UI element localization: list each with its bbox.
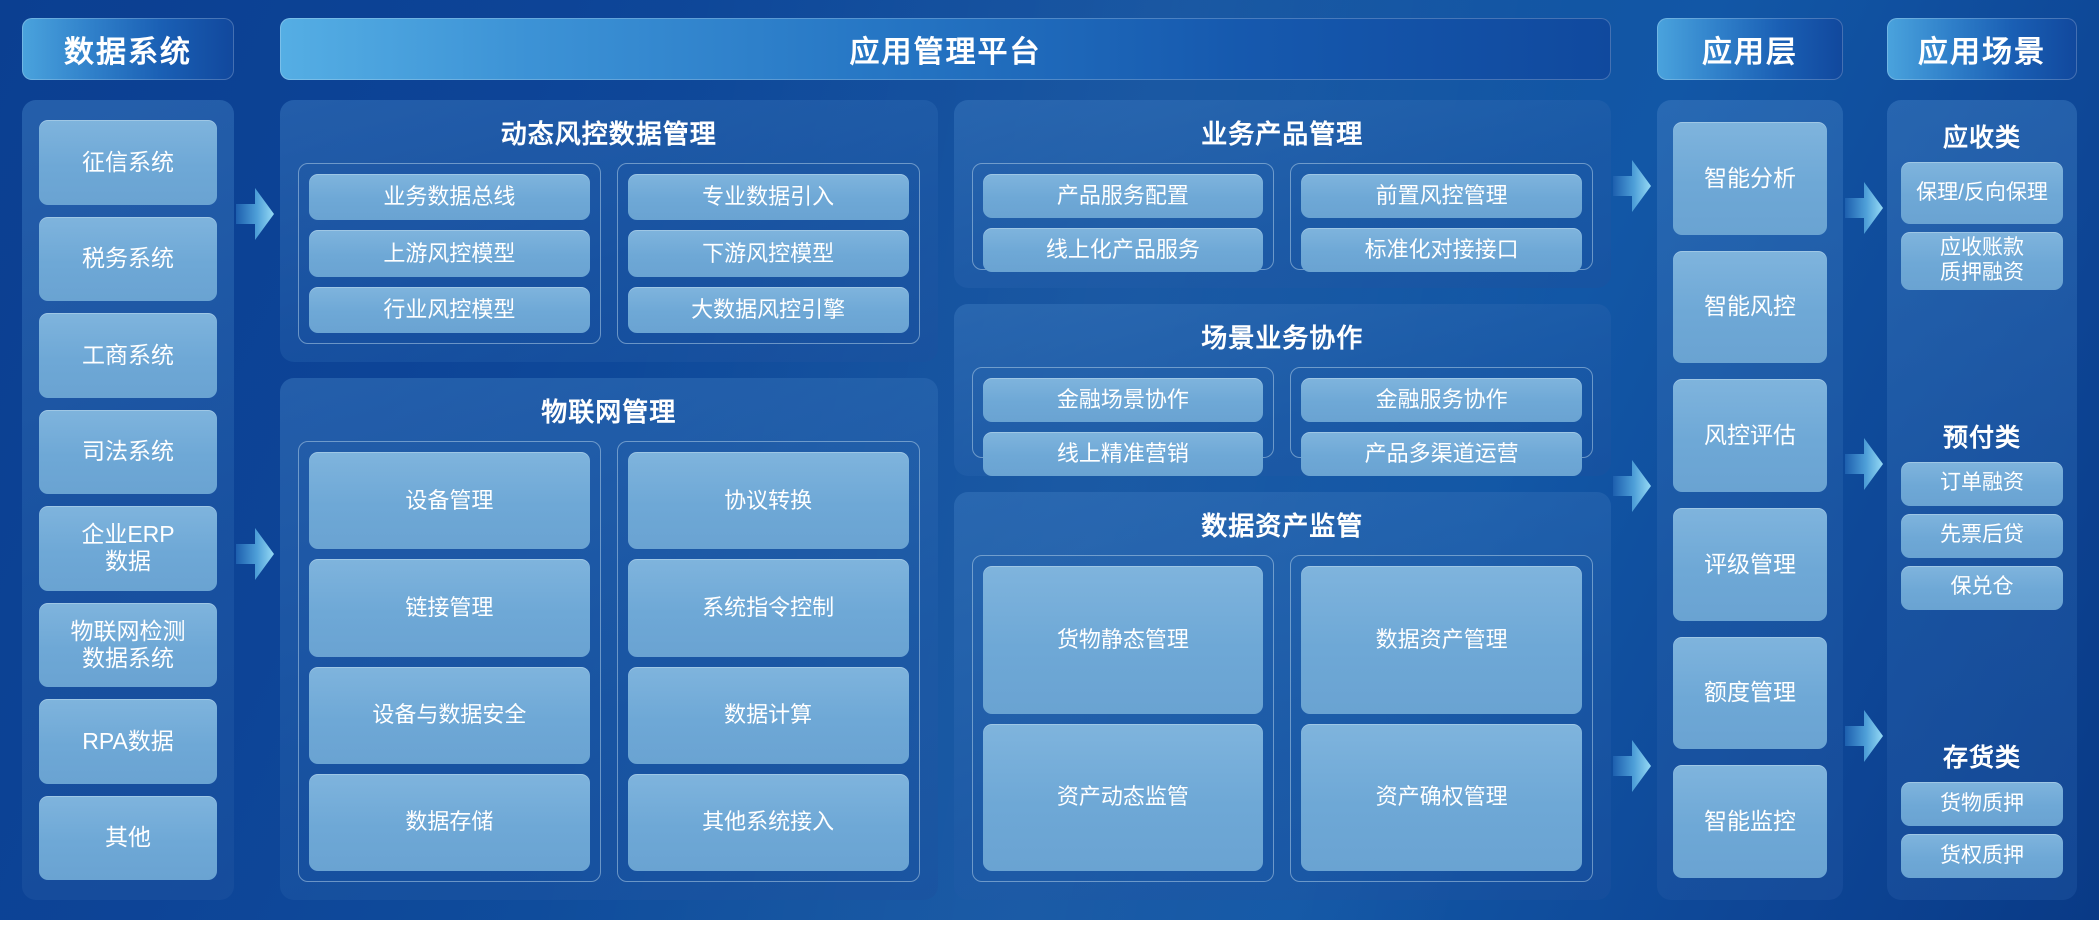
list-item[interactable]: RPA数据 [39,699,217,784]
module-subgroup: 业务数据总线 上游风控模型 行业风控模型 [298,163,601,344]
flow-arrow-icon [1613,158,1651,214]
list-item[interactable]: 前置风控管理 [1301,174,1582,218]
list-item[interactable]: 数据计算 [628,667,909,764]
list-item[interactable]: 评级管理 [1673,508,1827,621]
module-subgroup: 产品服务配置 线上化产品服务 [972,163,1275,270]
list-item[interactable]: 智能分析 [1673,122,1827,235]
list-item[interactable]: 企业ERP 数据 [39,506,217,591]
list-item[interactable]: 金融服务协作 [1301,378,1582,422]
platform-right-modules: 业务产品管理 产品服务配置 线上化产品服务 前置风控管理 标准化对接接口 [954,100,1612,900]
module-columns: 业务数据总线 上游风控模型 行业风控模型 专业数据引入 下游风控模型 大数据风控… [298,163,920,344]
module-columns: 货物静态管理 资产动态监管 数据资产管理 资产确权管理 [972,555,1594,882]
platform-left-modules: 动态风控数据管理 业务数据总线 上游风控模型 行业风控模型 专业数据引入 下游风… [280,100,938,900]
scenarios-panel: 应收类 保理/反向保理 应收账款 质押融资 预付类 订单融资 先票后贷 保兑仓 … [1887,100,2077,900]
list-item[interactable]: 大数据风控引擎 [628,287,909,333]
data-systems-panel: 征信系统 税务系统 工商系统 司法系统 企业ERP 数据 物联网检测 数据系统 … [22,100,234,900]
platform-body: 动态风控数据管理 业务数据总线 上游风控模型 行业风控模型 专业数据引入 下游风… [280,100,1611,900]
list-item[interactable]: 标准化对接接口 [1301,228,1582,272]
arrow-gap-three [1843,18,1887,900]
scenario-group-title: 预付类 [1901,412,2063,462]
list-item[interactable]: 专业数据引入 [628,174,909,220]
list-item[interactable]: 其他 [39,796,217,881]
module-columns: 产品服务配置 线上化产品服务 前置风控管理 标准化对接接口 [972,163,1594,270]
application-layer-panel: 智能分析 智能风控 风控评估 评级管理 额度管理 智能监控 [1657,100,1843,900]
module-data-asset-supervision: 数据资产监管 货物静态管理 资产动态监管 数据资产管理 资产确权管理 [954,492,1612,900]
flow-arrow-icon [1845,180,1883,236]
module-scenario-business-collaboration: 场景业务协作 金融场景协作 线上精准营销 金融服务协作 产品多渠道运营 [954,304,1612,476]
list-item[interactable]: 协议转换 [628,452,909,549]
list-item[interactable]: 产品多渠道运营 [1301,432,1582,476]
spacer [1901,618,2063,732]
list-item[interactable]: 数据资产管理 [1301,566,1582,714]
module-subgroup: 专业数据引入 下游风控模型 大数据风控引擎 [617,163,920,344]
scenario-group-title: 存货类 [1901,732,2063,782]
module-subgroup: 协议转换 系统指令控制 数据计算 其他系统接入 [617,441,920,882]
list-item[interactable]: 税务系统 [39,217,217,302]
column-header-application-scenarios: 应用场景 [1887,18,2077,80]
list-item[interactable]: 订单融资 [1901,462,2063,506]
list-item[interactable]: 风控评估 [1673,379,1827,492]
list-item[interactable]: 业务数据总线 [309,174,590,220]
list-item[interactable]: 智能风控 [1673,251,1827,364]
module-business-product-management: 业务产品管理 产品服务配置 线上化产品服务 前置风控管理 标准化对接接口 [954,100,1612,288]
list-item[interactable]: 系统指令控制 [628,559,909,656]
list-item[interactable]: 物联网检测 数据系统 [39,603,217,688]
list-item[interactable]: 保兑仓 [1901,566,2063,610]
list-item[interactable]: 先票后贷 [1901,514,2063,558]
list-item[interactable]: 下游风控模型 [628,230,909,276]
list-item[interactable]: 智能监控 [1673,765,1827,878]
column-platform: 应用管理平台 动态风控数据管理 业务数据总线 上游风控模型 行业风控模型 [280,18,1611,900]
list-item[interactable]: 链接管理 [309,559,590,656]
column-header-data-systems: 数据系统 [22,18,234,80]
column-application-layer: 应用层 智能分析 智能风控 风控评估 评级管理 额度管理 智能监控 [1657,18,1843,900]
module-title: 业务产品管理 [972,114,1594,151]
flow-arrow-icon [1845,436,1883,492]
list-item[interactable]: 工商系统 [39,313,217,398]
flow-arrow-icon [1845,708,1883,764]
arrow-gap-two [1611,18,1657,900]
list-item[interactable]: 线上化产品服务 [983,228,1264,272]
list-item[interactable]: 额度管理 [1673,637,1827,750]
module-subgroup: 设备管理 链接管理 设备与数据安全 数据存储 [298,441,601,882]
list-item[interactable]: 资产确权管理 [1301,724,1582,872]
list-item[interactable]: 数据存储 [309,774,590,871]
list-item[interactable]: 行业风控模型 [309,287,590,333]
list-item[interactable]: 设备管理 [309,452,590,549]
flow-arrow-icon [236,186,274,242]
list-item[interactable]: 司法系统 [39,410,217,495]
flow-arrow-icon [1613,458,1651,514]
column-header-platform: 应用管理平台 [280,18,1611,80]
scenario-group-title: 应收类 [1901,112,2063,162]
module-subgroup: 金融服务协作 产品多渠道运营 [1290,367,1593,458]
arrow-gap-one [234,18,280,900]
diagram-layout: 数据系统 征信系统 税务系统 工商系统 司法系统 企业ERP 数据 物联网检测 … [0,0,2099,920]
list-item[interactable]: 货物静态管理 [983,566,1264,714]
list-item[interactable]: 保理/反向保理 [1901,162,2063,224]
list-item[interactable]: 产品服务配置 [983,174,1264,218]
module-subgroup: 数据资产管理 资产确权管理 [1290,555,1593,882]
list-item[interactable]: 设备与数据安全 [309,667,590,764]
module-subgroup: 货物静态管理 资产动态监管 [972,555,1275,882]
flow-arrow-icon [1613,738,1651,794]
spacer [1901,298,2063,412]
scenario-group-receivables: 应收类 保理/反向保理 应收账款 质押融资 [1901,112,2063,298]
list-item[interactable]: 金融场景协作 [983,378,1264,422]
column-application-scenarios: 应用场景 应收类 保理/反向保理 应收账款 质押融资 预付类 订单融资 先票后贷… [1887,18,2077,900]
column-header-application-layer: 应用层 [1657,18,1843,80]
scenario-group-inventory: 存货类 货物质押 货权质押 [1901,732,2063,886]
list-item[interactable]: 货权质押 [1901,834,2063,878]
module-title: 动态风控数据管理 [298,114,920,151]
list-item[interactable]: 线上精准营销 [983,432,1264,476]
module-subgroup: 金融场景协作 线上精准营销 [972,367,1275,458]
list-item[interactable]: 货物质押 [1901,782,2063,826]
diagram-canvas: 数据系统 征信系统 税务系统 工商系统 司法系统 企业ERP 数据 物联网检测 … [0,0,2099,920]
list-item[interactable]: 上游风控模型 [309,230,590,276]
module-columns: 设备管理 链接管理 设备与数据安全 数据存储 协议转换 系统指令控制 数据计算 … [298,441,920,882]
module-iot-management: 物联网管理 设备管理 链接管理 设备与数据安全 数据存储 协议转换 系统指令控制 [280,378,938,900]
list-item[interactable]: 其他系统接入 [628,774,909,871]
module-title: 物联网管理 [298,392,920,429]
module-title: 数据资产监管 [972,506,1594,543]
module-title: 场景业务协作 [972,318,1594,355]
module-subgroup: 前置风控管理 标准化对接接口 [1290,163,1593,270]
flow-arrow-icon [236,526,274,582]
module-dynamic-risk-data-management: 动态风控数据管理 业务数据总线 上游风控模型 行业风控模型 专业数据引入 下游风… [280,100,938,362]
list-item[interactable]: 应收账款 质押融资 [1901,232,2063,290]
scenario-group-prepaid: 预付类 订单融资 先票后贷 保兑仓 [1901,412,2063,618]
column-data-systems: 数据系统 征信系统 税务系统 工商系统 司法系统 企业ERP 数据 物联网检测 … [22,18,234,900]
list-item[interactable]: 资产动态监管 [983,724,1264,872]
module-columns: 金融场景协作 线上精准营销 金融服务协作 产品多渠道运营 [972,367,1594,458]
list-item[interactable]: 征信系统 [39,120,217,205]
